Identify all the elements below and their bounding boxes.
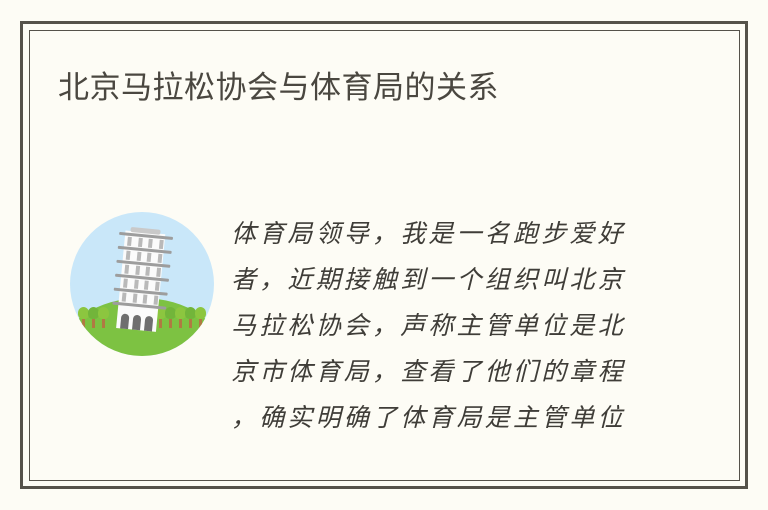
tree-trunk [199,319,202,328]
illustration-leaning-tower-of-pisa [70,212,214,356]
body-line: 京市体育局，查看了他们的章程 [231,350,643,396]
tower-arch [144,316,153,332]
tree-canopy [195,307,206,319]
tree-canopy [98,307,109,319]
body-line: 者，近期接触到一个组织叫北京 [231,258,643,304]
tree-trunk [82,319,85,328]
tower-graphic [110,230,173,333]
body-line: 体育局领导，我是一名跑步爱好 [231,212,643,258]
illustration-circle-background [70,212,214,356]
tree-trunk [102,319,105,328]
body-line: ，确实明确了体育局是主管单位 [231,396,643,442]
tree-trunk [189,319,192,328]
article-body: 体育局领导，我是一名跑步爱好 者，近期接触到一个组织叫北京 马拉松协会，声称主管… [231,212,643,442]
tree-trunk [179,319,182,328]
tower-arch [120,313,129,329]
tree-trunk [169,319,172,328]
article-card: 北京马拉松协会与体育局的关系 [0,0,768,510]
tower-arch [132,315,141,331]
tree-icon [195,307,206,328]
tree-trunk [92,319,95,328]
tree-icon [98,307,109,328]
body-line: 马拉松协会，声称主管单位是北 [231,304,643,350]
page-title: 北京马拉松协会与体育局的关系 [58,68,499,108]
